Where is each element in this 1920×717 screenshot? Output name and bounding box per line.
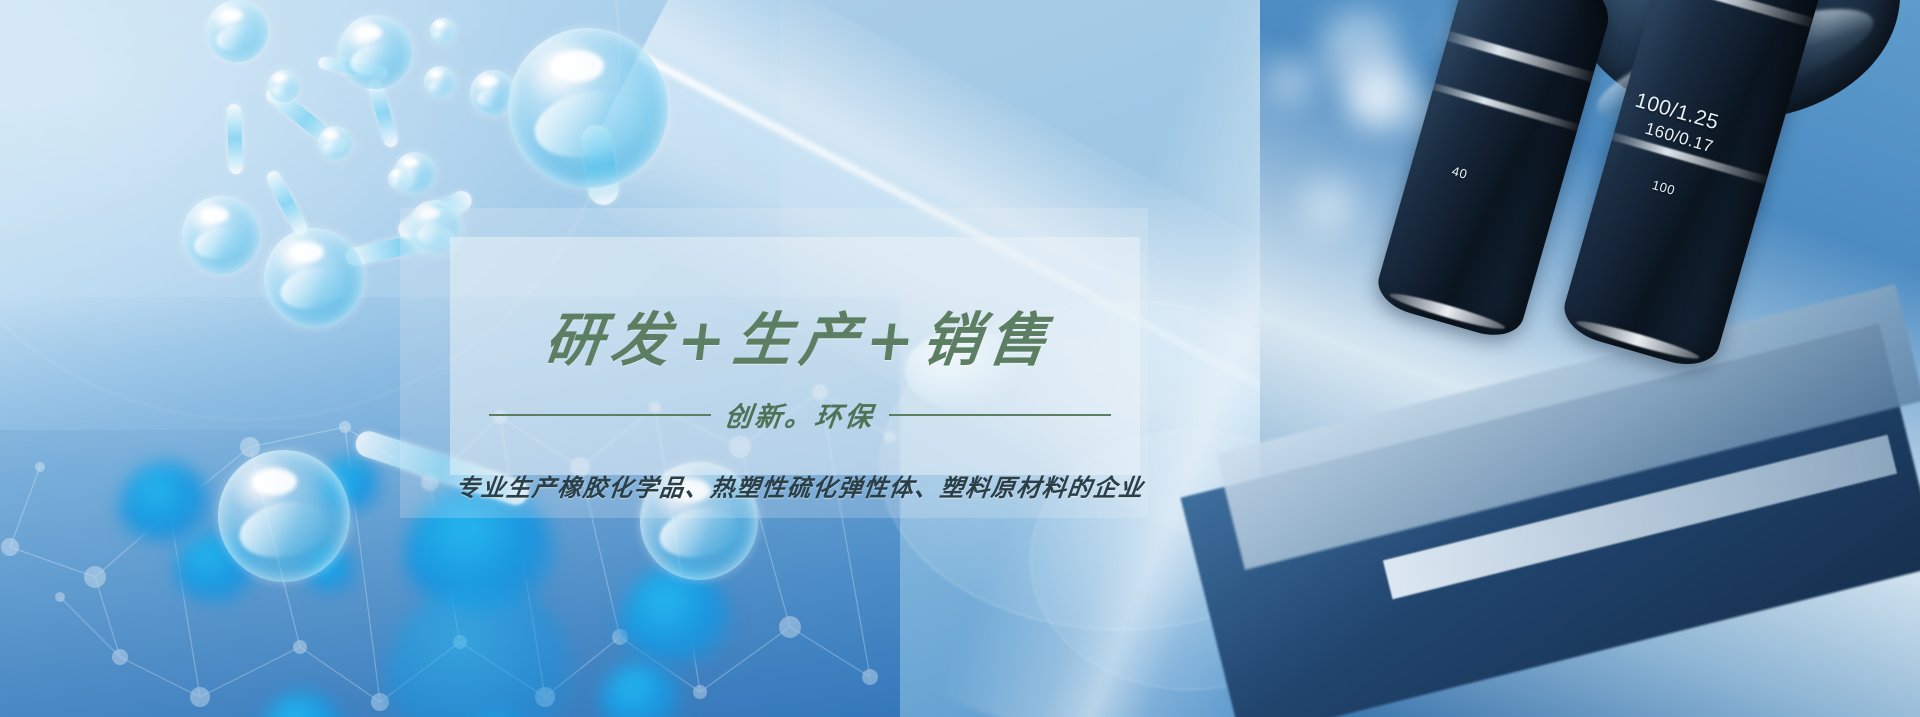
hero-description: 专业生产橡胶化学品、热塑性硫化弹性体、塑料原材料的企业: [438, 468, 1162, 503]
objective-band: [1433, 83, 1579, 131]
hero-text-block: 研发+生产+销售 创新。环保 专业生产橡胶化学品、热塑性硫化弹性体、塑料原材料的…: [440, 255, 1160, 465]
microscope-scene: 40 100/1.25 160/0.17 100: [1260, 0, 1920, 717]
bokeh-light: [1268, 60, 1312, 104]
molecule-bubble: [264, 228, 364, 328]
molecule-bubble: [318, 126, 352, 160]
hero-tagline: 创新。环保: [723, 395, 878, 434]
tagline-rule-left: [489, 414, 711, 416]
molecule-bubble: [430, 18, 456, 44]
molecule-bubble: [182, 196, 260, 274]
bokeh-light: [1348, 70, 1404, 126]
hero-tagline-row: 创新。环保: [440, 395, 1160, 434]
molecule-bubble: [338, 15, 412, 89]
molecule-bubble: [206, 0, 268, 62]
glow-blob: [120, 462, 210, 542]
molecule-bubble: [424, 66, 456, 98]
objective-lens-lip: [1388, 289, 1507, 334]
molecule-bubble: [508, 28, 668, 188]
objective-band: [1657, 0, 1814, 27]
tagline-rule-right: [889, 414, 1111, 416]
molecule-bond: [227, 104, 243, 174]
hero-banner: 40 100/1.25 160/0.17 100 研发+生产+销售 创新。环保 …: [0, 0, 1920, 717]
bokeh-light: [1300, 178, 1356, 234]
objective-band: [1447, 31, 1594, 82]
molecule-bubble: [218, 450, 350, 582]
molecule-bubble: [388, 168, 410, 190]
hero-headline: 研发+生产+销售: [436, 311, 1163, 369]
molecule-bubble: [268, 70, 300, 102]
